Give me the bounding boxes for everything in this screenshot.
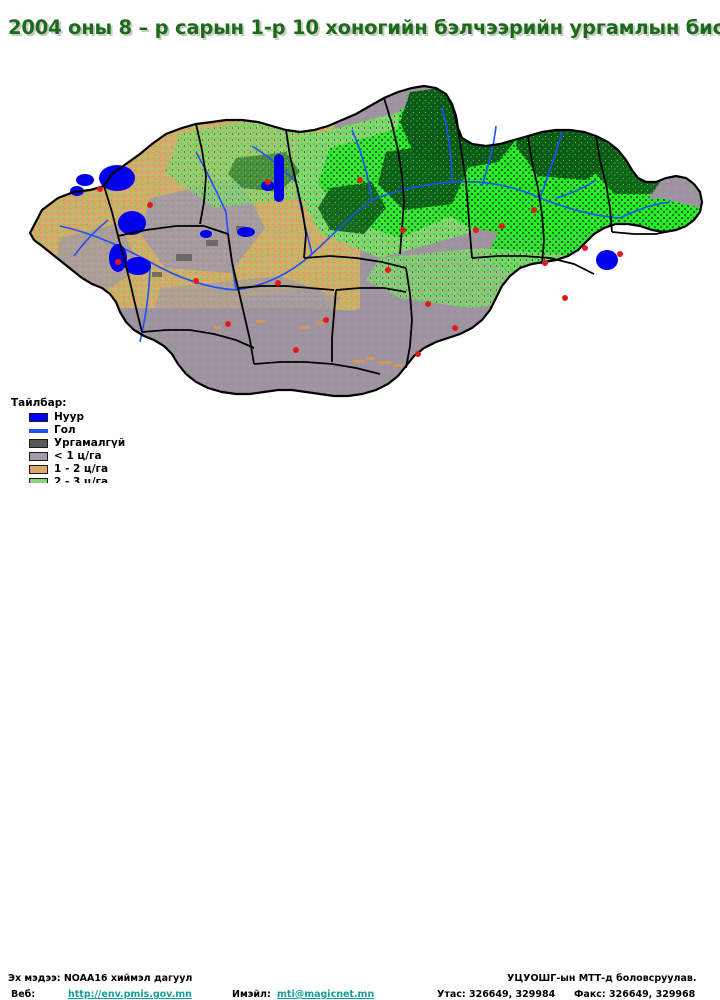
legend-item-lake: Нуур bbox=[8, 411, 112, 424]
legend-label-river: Гол bbox=[54, 425, 76, 436]
gobi-bare-area bbox=[110, 298, 640, 398]
page-title: 2004 оны 8 – р сарын 1-р 10 хоногийн бэл… bbox=[8, 16, 714, 39]
footer-web-label: Веб: bbox=[11, 989, 35, 1000]
legend-label-lake: Нуур bbox=[54, 412, 84, 423]
legend-item-1-2: 1 - 2 ц/га bbox=[8, 463, 112, 476]
legend-label-lt1: < 1 ц/га bbox=[54, 451, 102, 462]
legend-item-bare: Ургамалгүй bbox=[8, 437, 112, 450]
legend-item-lt1: < 1 ц/га bbox=[8, 450, 112, 463]
poster-footer: Эх мэдээ: NOAA16 хиймэл дагуул Веб: http… bbox=[0, 484, 720, 540]
legend-label-2-3: 2 - 3 ц/га bbox=[54, 477, 108, 483]
legend-swatch-river bbox=[29, 429, 48, 433]
legend-swatch-lt1 bbox=[29, 452, 48, 461]
legend-swatch-2-3 bbox=[29, 478, 48, 483]
legend-item-2-3: 2 - 3 ц/га bbox=[8, 476, 112, 483]
footer-org-line: УЦУОШГ-ын МТТ-д боловсруулав. bbox=[507, 973, 697, 984]
legend-label-bare: Ургамалгүй bbox=[54, 438, 125, 449]
biomass-map: Тайлбар: Нуур Гол Ургамалгүй < 1 ц/га 1 … bbox=[0, 58, 720, 483]
footer-mail-label: Имэйл: bbox=[232, 989, 271, 1000]
poster-title-bar: 2004 оны 8 – р сарын 1-р 10 хоногийн бэл… bbox=[0, 16, 720, 50]
footer-web-link[interactable]: http://env.pmis.gov.mn bbox=[68, 989, 192, 1000]
legend-heading: Тайлбар: bbox=[11, 397, 112, 409]
footer-fax-line: Факс: 326649, 329968 bbox=[574, 989, 695, 1000]
footer-phone-line: Утас: 326649, 329984 bbox=[437, 989, 555, 1000]
map-legend: Тайлбар: Нуур Гол Ургамалгүй < 1 ц/га 1 … bbox=[8, 397, 112, 483]
legend-swatch-bare bbox=[29, 439, 48, 448]
footer-source-label: Эх мэдээ: NOAA16 хиймэл дагуул bbox=[8, 973, 192, 984]
footer-email-link[interactable]: mti@magicnet.mn bbox=[277, 989, 374, 1000]
legend-swatch-1-2 bbox=[29, 465, 48, 474]
legend-swatch-lake bbox=[29, 413, 48, 422]
legend-item-river: Гол bbox=[8, 424, 112, 437]
map-poster: 2004 оны 8 – р сарын 1-р 10 хоногийн бэл… bbox=[0, 0, 720, 540]
legend-label-1-2: 1 - 2 ц/га bbox=[54, 464, 108, 475]
